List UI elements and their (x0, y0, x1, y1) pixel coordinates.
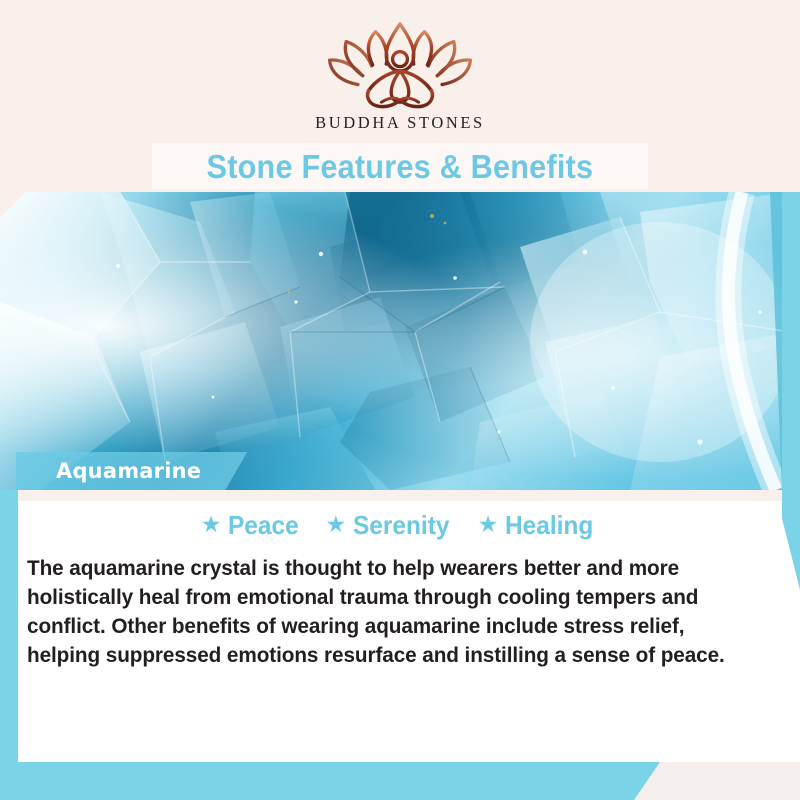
benefits-row: ★ Peace ★ Serenity ★ Healing (18, 512, 782, 538)
stone-description: The aquamarine crystal is thought to hel… (27, 554, 747, 670)
benefit-label: Peace (228, 512, 299, 538)
page-title: Stone Features & Benefits (207, 150, 594, 183)
stone-name: Aquamarine (56, 459, 201, 483)
header-band: BUDDHA STONES Stone Features & Benefits (0, 0, 800, 192)
title-ribbon: Stone Features & Benefits (152, 143, 648, 189)
brand-name: BUDDHA STONES (0, 113, 800, 133)
stone-features-infographic: BUDDHA STONES Stone Features & Benefits (0, 0, 800, 800)
star-icon: ★ (326, 513, 347, 536)
benefit-label: Serenity (353, 512, 449, 538)
brand-logo: BUDDHA STONES (0, 20, 800, 133)
benefit-item: ★ Peace (201, 512, 304, 538)
star-icon: ★ (478, 513, 499, 536)
benefit-item: ★ Serenity (326, 512, 456, 538)
benefit-item: ★ Healing (478, 512, 600, 538)
benefit-label: Healing (505, 512, 593, 538)
crystal-hero-image (0, 192, 800, 490)
bottom-accent-bar (0, 762, 660, 800)
panel-top-strip (18, 490, 782, 501)
content-panel: ★ Peace ★ Serenity ★ Healing The aquamar… (18, 490, 782, 762)
left-accent-bar (0, 490, 18, 800)
aquamarine-crystal-photo (0, 192, 800, 490)
star-icon: ★ (201, 513, 222, 536)
stone-name-badge: Aquamarine (16, 452, 247, 490)
right-accent-bar (782, 192, 800, 590)
lotus-meditation-icon (315, 20, 485, 110)
bottom-right-corner-fill (634, 762, 800, 800)
